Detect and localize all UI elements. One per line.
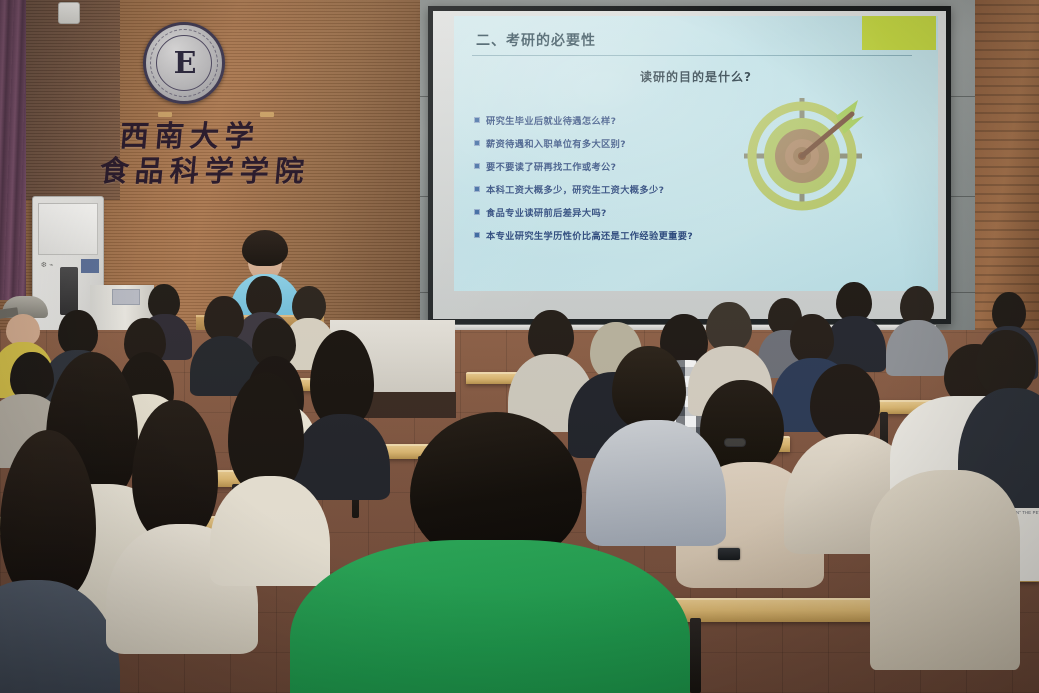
bullet-label: 本专业研究生学历性价比高还是工作经验更重要? bbox=[486, 228, 693, 242]
bullet-square-icon bbox=[474, 163, 480, 169]
bullet-square-icon bbox=[474, 186, 480, 192]
student-head bbox=[790, 314, 834, 364]
glasses-icon bbox=[724, 438, 746, 447]
student-head bbox=[706, 302, 752, 352]
ac-control-panel[interactable] bbox=[60, 267, 78, 315]
lecture-hall-photo: E 西南大学 食品科学学院 ❆ ⌁ 二、考研的必要性 读研的目的是什么? 研究生… bbox=[0, 0, 1039, 693]
slide-subtitle: 读研的目的是什么? bbox=[454, 68, 938, 85]
list-item: 要不要读了研再找工作或考公? bbox=[474, 154, 774, 177]
wall-text-college: 食品科学学院 bbox=[98, 148, 312, 190]
university-emblem: E bbox=[143, 22, 225, 104]
bullet-label: 研究生毕业后就业待遇怎么样? bbox=[486, 113, 616, 127]
list-item: 本科工资大概多少，研究生工资大概多少? bbox=[474, 177, 774, 200]
list-item: 本专业研究生学历性价比高还是工作经验更重要? bbox=[474, 223, 774, 246]
student-torso bbox=[290, 540, 690, 693]
window-curtain bbox=[0, 0, 26, 300]
slide-title-rule bbox=[472, 55, 912, 56]
bullet-label: 要不要读了研再找工作或考公? bbox=[486, 159, 616, 173]
teacher-hair bbox=[242, 230, 288, 266]
desk-leg bbox=[690, 618, 701, 693]
emblem-ring bbox=[150, 29, 218, 97]
bullet-label: 食品专业读研前后差异大吗? bbox=[486, 205, 607, 219]
slide-title: 二、考研的必要性 bbox=[476, 30, 596, 50]
phone-icon bbox=[718, 548, 740, 560]
slide-accent-block bbox=[862, 16, 936, 50]
presentation-slide: 二、考研的必要性 读研的目的是什么? 研究生毕业后就业待遇怎么样? 薪资待遇和入… bbox=[454, 16, 938, 291]
list-item: 研究生毕业后就业待遇怎么样? bbox=[474, 108, 774, 131]
brick-wall-right bbox=[975, 0, 1039, 330]
bullet-label: 本科工资大概多少，研究生工资大概多少? bbox=[486, 182, 664, 196]
list-item: 食品专业读研前后差异大吗? bbox=[474, 200, 774, 223]
bullet-square-icon bbox=[474, 209, 480, 215]
student-head bbox=[612, 346, 686, 430]
student-torso bbox=[886, 320, 948, 376]
student-head bbox=[810, 364, 880, 442]
slide-bullet-list: 研究生毕业后就业待遇怎么样? 薪资待遇和入职单位有多大区别? 要不要读了研再找工… bbox=[474, 108, 774, 246]
target-arrow-icon bbox=[740, 94, 868, 214]
wall-sign bbox=[112, 289, 140, 305]
student-torso bbox=[870, 470, 1020, 670]
student-head bbox=[976, 330, 1036, 396]
bullet-square-icon bbox=[474, 232, 480, 238]
list-item: 薪资待遇和入职单位有多大区别? bbox=[474, 131, 774, 154]
ac-logo-icon: ❆ ⌁ bbox=[41, 261, 53, 269]
bullet-square-icon bbox=[474, 117, 480, 123]
bullet-square-icon bbox=[474, 140, 480, 146]
wall-sensor-icon bbox=[58, 2, 80, 24]
wall-mount-plate bbox=[260, 112, 274, 117]
bullet-label: 薪资待遇和入职单位有多大区别? bbox=[486, 136, 626, 150]
ac-grille bbox=[38, 203, 98, 255]
ac-badge bbox=[81, 259, 99, 273]
